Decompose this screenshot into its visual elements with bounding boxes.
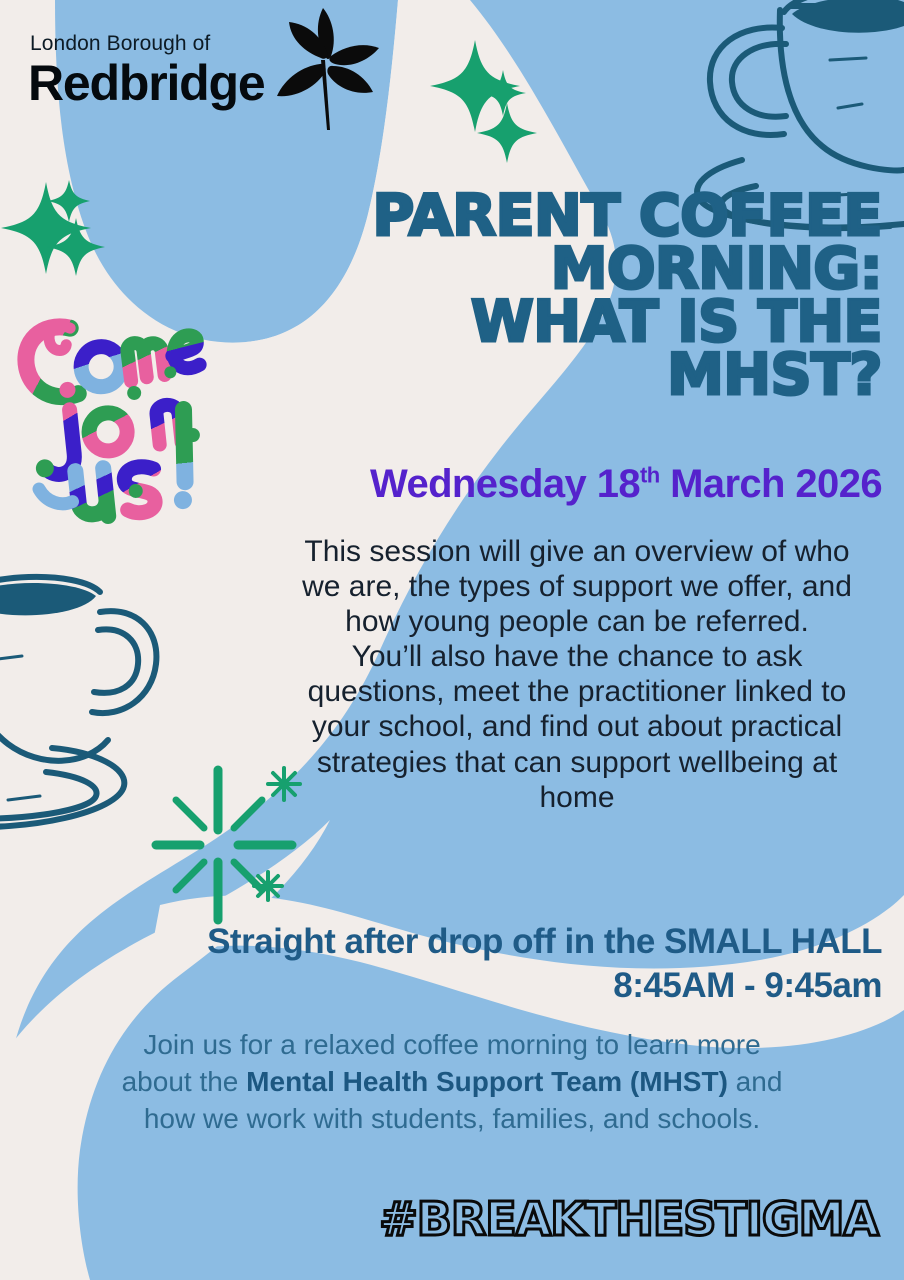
logo-line-2: Redbridge — [28, 54, 264, 112]
body-line-1: This session will give an overview of wh… — [272, 534, 882, 569]
body-line-2: we are, the types of support we offer, a… — [272, 569, 882, 604]
date-suffix: March 2026 — [660, 462, 882, 506]
body-line-6: your school, and find out about practica… — [272, 709, 882, 744]
chestnut-leaf-icon — [265, 4, 385, 134]
page-title: PARENT COFFEE MORNING: WHAT IS THE MHST? — [362, 190, 882, 402]
date-prefix: Wednesday 18 — [370, 462, 640, 506]
body-line-4: You’ll also have the chance to ask — [272, 639, 882, 674]
closing-line-2-post: and — [728, 1066, 783, 1097]
body-line-5: questions, meet the practitioner linked … — [272, 674, 882, 709]
closing-line-1: Join us for a relaxed coffee morning to … — [46, 1026, 858, 1063]
time-line: 8:45AM - 9:45am — [22, 964, 882, 1008]
closing-description: Join us for a relaxed coffee morning to … — [46, 1026, 858, 1138]
event-date: Wednesday 18th March 2026 — [182, 462, 882, 507]
location-and-time: Straight after drop off in the SMALL HAL… — [22, 920, 882, 1008]
logo-line-1: London Borough of — [30, 32, 210, 56]
session-description: This session will give an overview of wh… — [272, 534, 882, 815]
closing-line-2-pre: about the — [122, 1066, 247, 1097]
body-line-3: how young people can be referred. — [272, 604, 882, 639]
poster-canvas: London Borough of Redbridge — [0, 0, 904, 1280]
redbridge-logo: London Borough of Redbridge — [28, 26, 358, 136]
date-ordinal: th — [640, 463, 660, 488]
closing-line-2: about the Mental Health Support Team (MH… — [46, 1063, 858, 1100]
location-line: Straight after drop off in the SMALL HAL… — [22, 920, 882, 964]
body-line-8: home — [272, 780, 882, 815]
mhst-team-name: Mental Health Support Team (MHST) — [246, 1066, 728, 1097]
small-starburst-b — [254, 872, 282, 900]
body-line-7: strategies that can support wellbeing at — [272, 745, 882, 780]
closing-line-3: how we work with students, families, and… — [46, 1100, 858, 1137]
hashtag-breakthestigma: #BREAKTHESTIGMA — [379, 1192, 878, 1246]
title-line-4: MHST? — [362, 349, 882, 402]
